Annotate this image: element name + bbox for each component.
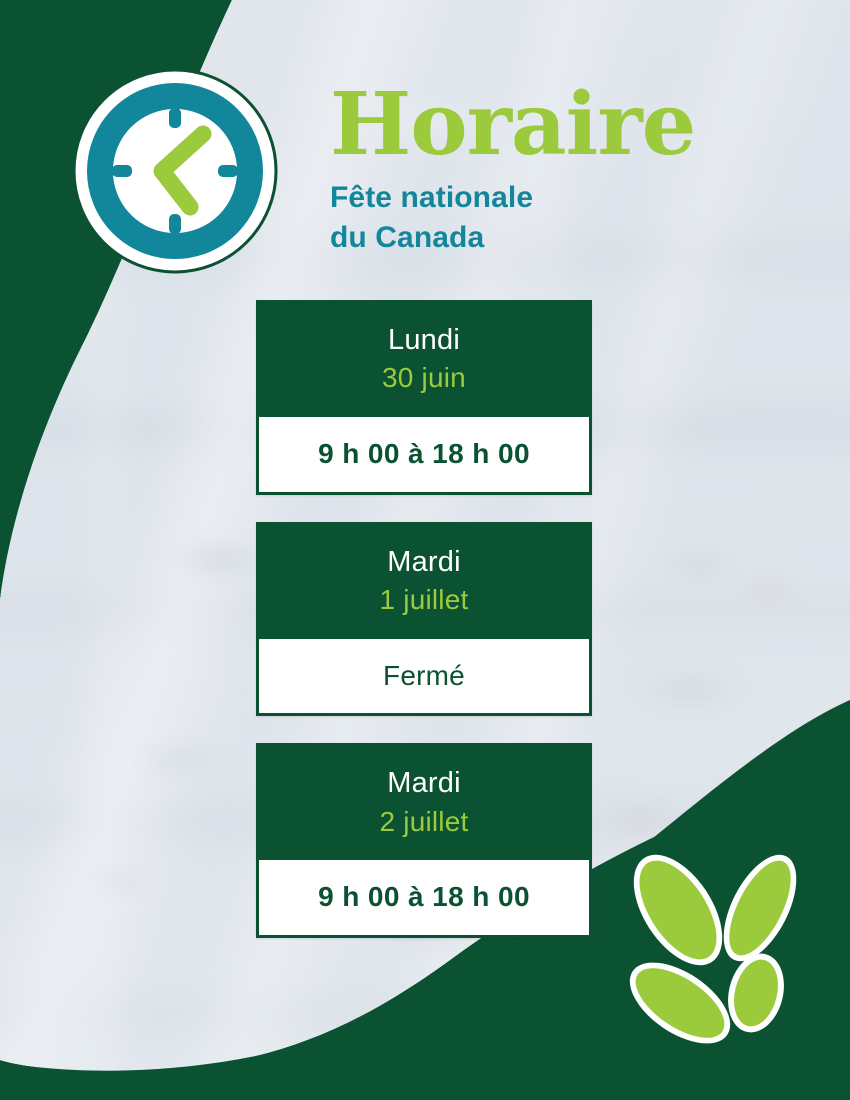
subtitle-line-1: Fête nationale <box>330 178 750 218</box>
schedule-card: Mardi 1 juillet Fermé <box>256 522 592 717</box>
clock-tick-9 <box>112 165 132 177</box>
clock-tick-3 <box>218 165 238 177</box>
schedule-card-header: Mardi 2 juillet <box>256 743 592 860</box>
schedule-poster: Horaire Fête nationale du Canada Lundi 3… <box>0 0 850 1100</box>
schedule-hours-value: 9 h 00 à 18 h 00 <box>267 882 581 913</box>
schedule-card: Mardi 2 juillet 9 h 00 à 18 h 00 <box>256 743 592 938</box>
schedule-card-body: 9 h 00 à 18 h 00 <box>256 417 592 495</box>
clock-tick-6 <box>169 214 181 234</box>
schedule-hours-value: 9 h 00 à 18 h 00 <box>267 439 581 470</box>
butterfly-logo-icon <box>612 848 832 1063</box>
schedule-day-label: Mardi <box>266 767 582 800</box>
schedule-hours-value: Fermé <box>267 661 581 692</box>
schedule-card-body: 9 h 00 à 18 h 00 <box>256 860 592 938</box>
schedule-date-label: 30 juin <box>266 361 582 395</box>
schedule-card-header: Mardi 1 juillet <box>256 522 592 639</box>
schedule-day-label: Lundi <box>266 324 582 357</box>
clock-icon <box>70 66 280 276</box>
subtitle-line-2: du Canada <box>330 218 750 258</box>
schedule-card-list: Lundi 30 juin 9 h 00 à 18 h 00 Mardi 1 j… <box>256 300 592 965</box>
page-subtitle: Fête nationale du Canada <box>330 178 750 258</box>
page-title: Horaire <box>330 84 750 166</box>
title-block: Horaire Fête nationale du Canada <box>330 84 750 257</box>
schedule-card-body: Fermé <box>256 639 592 717</box>
schedule-card: Lundi 30 juin 9 h 00 à 18 h 00 <box>256 300 592 495</box>
schedule-date-label: 2 juillet <box>266 805 582 839</box>
schedule-day-label: Mardi <box>266 546 582 579</box>
schedule-date-label: 1 juillet <box>266 583 582 617</box>
schedule-card-header: Lundi 30 juin <box>256 300 592 417</box>
clock-tick-12 <box>169 108 181 128</box>
